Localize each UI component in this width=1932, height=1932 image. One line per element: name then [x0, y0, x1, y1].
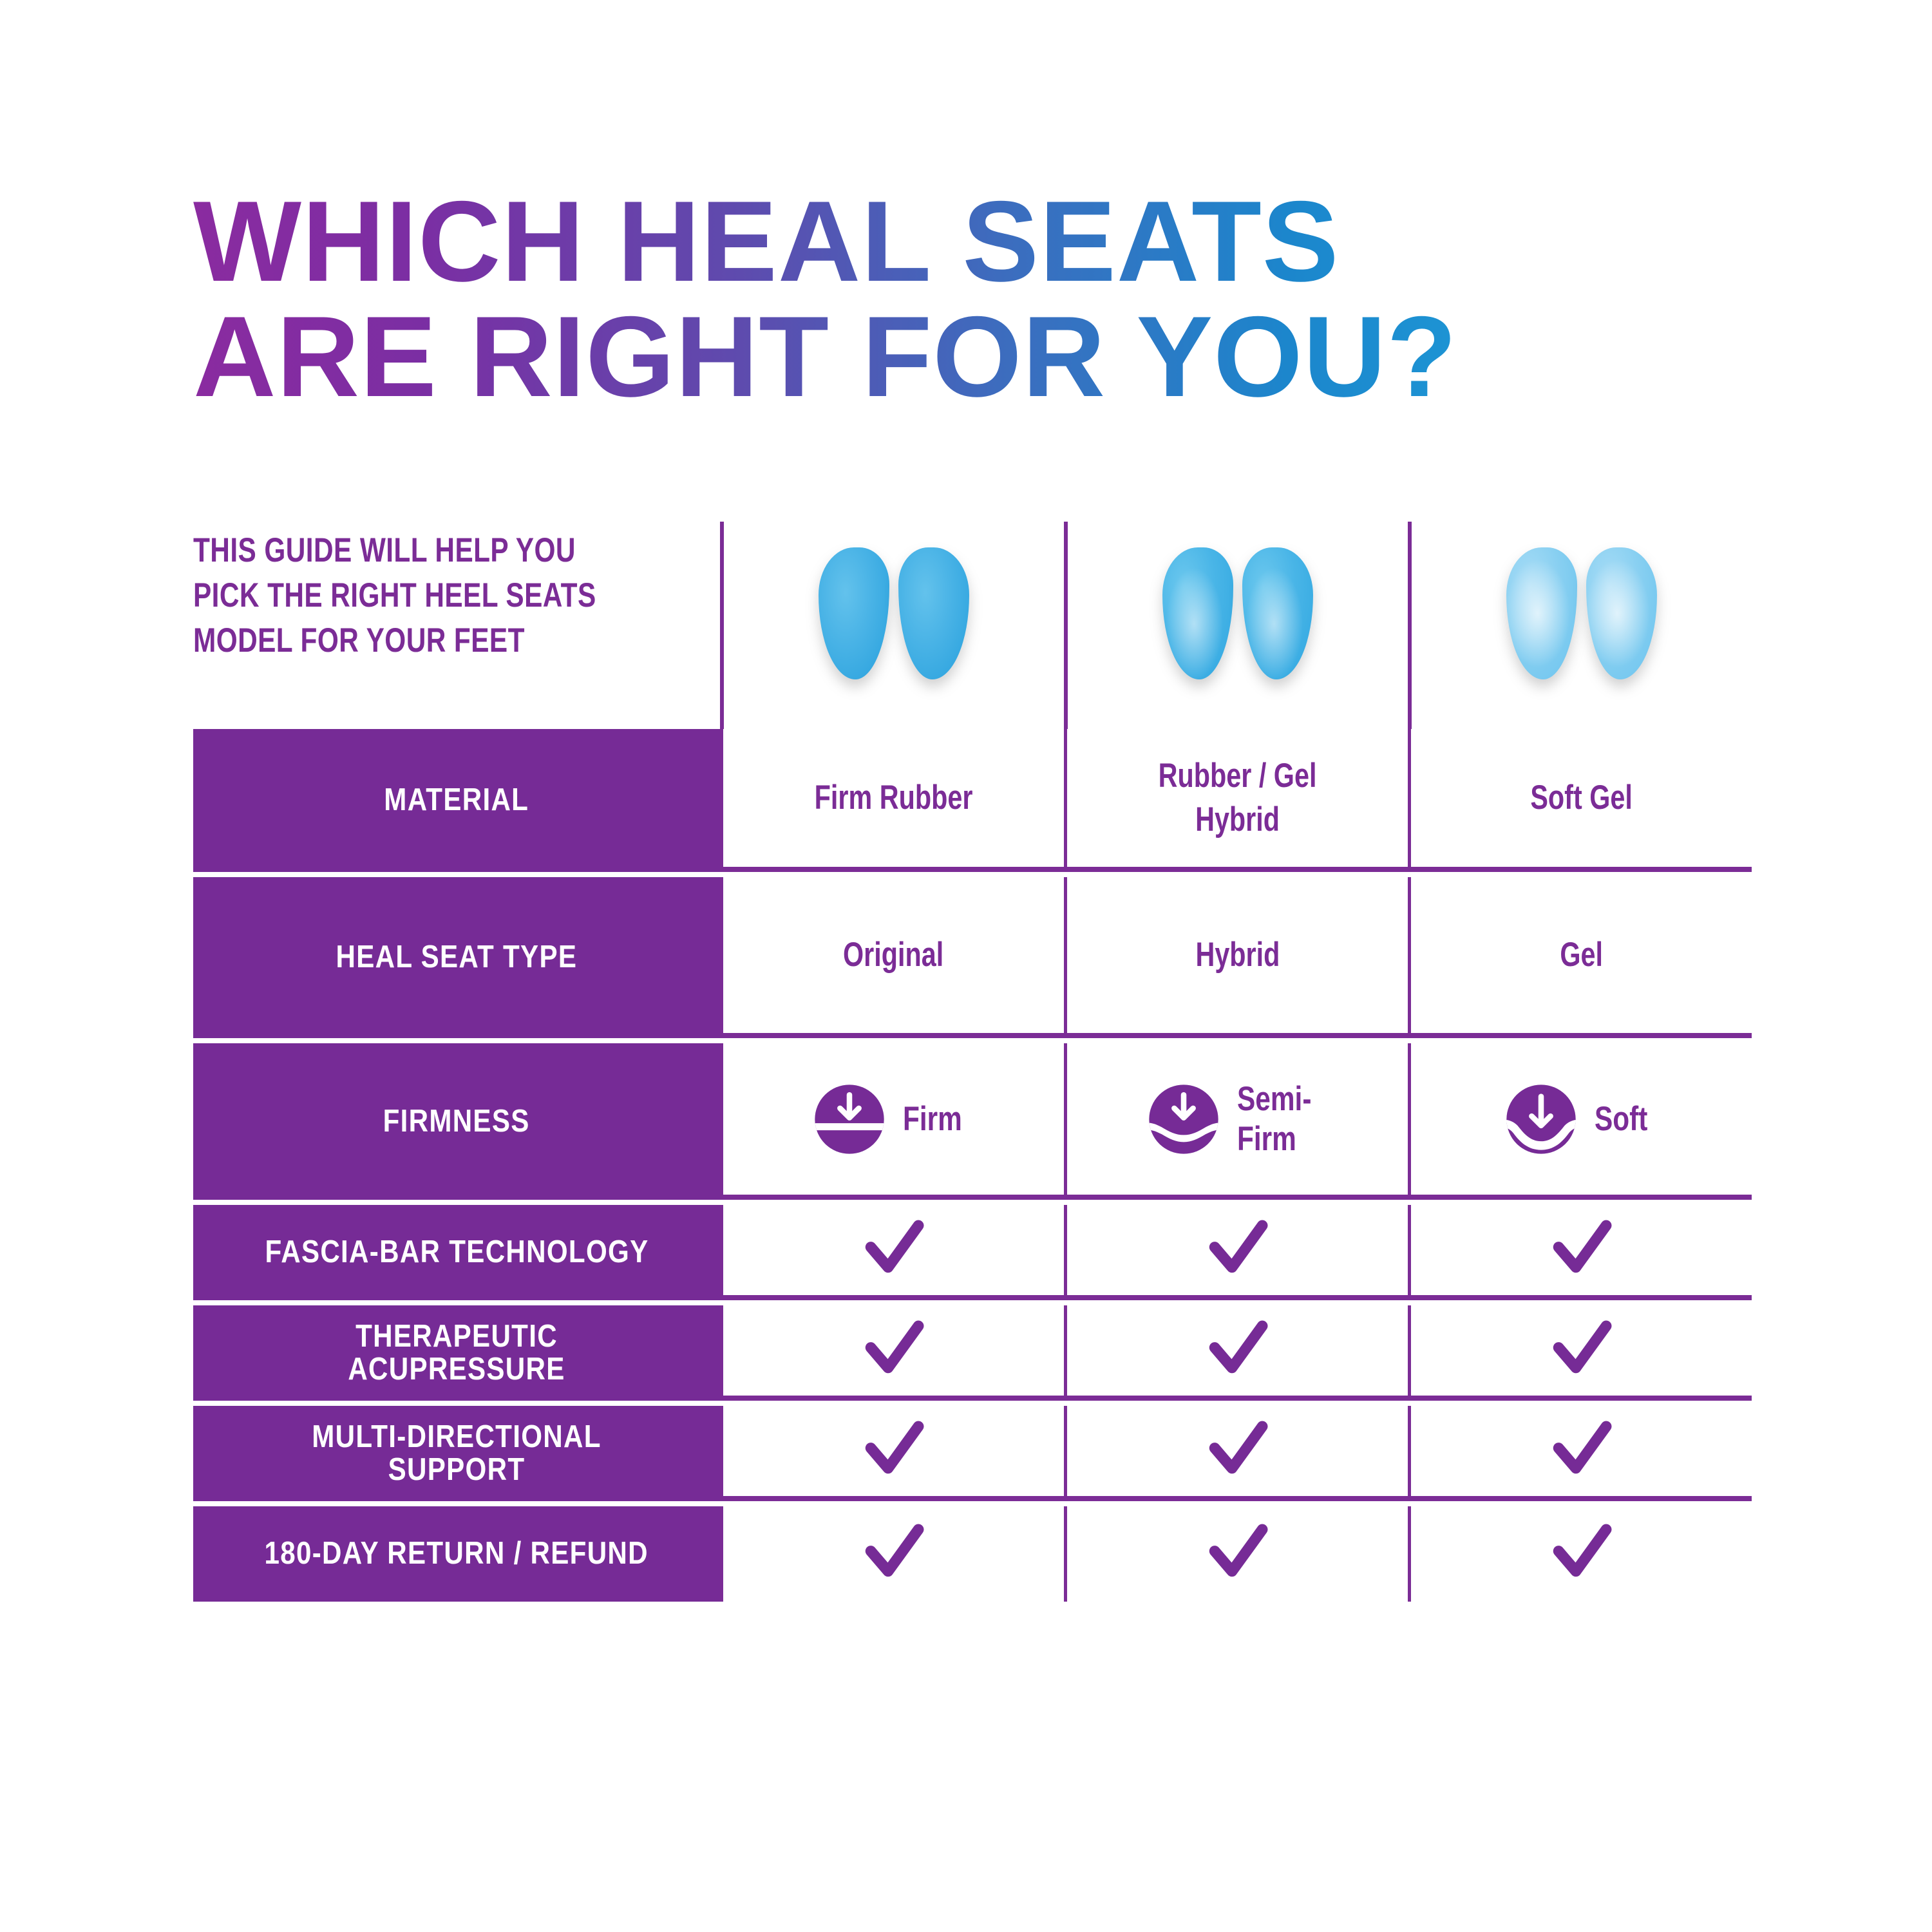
checkmark-icon [1202, 1518, 1274, 1590]
cell-acupressure-gel [1408, 1305, 1752, 1401]
checkmark-icon [1546, 1518, 1618, 1590]
firmness-deep-curve-icon [1502, 1080, 1580, 1159]
checkmark-icon [1202, 1415, 1274, 1487]
row-label-material: MATERIAL [193, 729, 720, 872]
table-row-material: MATERIAL Firm Rubber Rubber / Gel Hybrid… [193, 729, 1752, 872]
checkmark-icon [1202, 1314, 1274, 1387]
page-title-line-1: WHICH HEAL SEATS [193, 187, 1803, 296]
cell-firmness-gel: Soft [1408, 1043, 1752, 1200]
checkmark-icon [858, 1415, 930, 1487]
cell-acupressure-original [720, 1305, 1064, 1401]
product-cell-original [720, 522, 1064, 729]
table-row-heal-seat-type: HEAL SEAT TYPE Original Hybrid Gel [193, 877, 1752, 1038]
intro-line-3: MODEL FOR YOUR FEET [193, 618, 614, 663]
heel-cup-pair-hybrid-icon [1162, 547, 1313, 679]
table-row-return-refund: 180-DAY RETURN / REFUND [193, 1506, 1752, 1602]
checkmark-icon [1546, 1314, 1618, 1387]
intro-line-1: THIS GUIDE WILL HELP YOU [193, 528, 614, 573]
product-cell-gel [1408, 522, 1752, 729]
intro-text-cell: THIS GUIDE WILL HELP YOU PICK THE RIGHT … [193, 522, 720, 729]
cell-type-gel: Gel [1408, 877, 1752, 1038]
cell-material-original: Firm Rubber [720, 729, 1064, 872]
page-title-line-2: ARE RIGHT FOR YOU? [193, 302, 1803, 411]
cell-fascia-gel [1408, 1205, 1752, 1300]
row-label-return-refund: 180-DAY RETURN / REFUND [193, 1506, 720, 1602]
cell-type-hybrid: Hybrid [1064, 877, 1408, 1038]
cell-support-gel [1408, 1406, 1752, 1501]
comparison-table: THIS GUIDE WILL HELP YOU PICK THE RIGHT … [193, 522, 1752, 1607]
checkmark-icon [1546, 1415, 1618, 1487]
checkmark-icon [858, 1518, 930, 1590]
checkmark-icon [858, 1314, 930, 1387]
cell-type-original: Original [720, 877, 1064, 1038]
cell-refund-gel [1408, 1506, 1752, 1602]
cell-support-hybrid [1064, 1406, 1408, 1501]
cell-fascia-hybrid [1064, 1205, 1408, 1300]
cell-support-original [720, 1406, 1064, 1501]
intro-line-2: PICK THE RIGHT HEEL SEATS [193, 573, 614, 618]
checkmark-icon [1546, 1214, 1618, 1286]
firmness-wave-icon [1144, 1080, 1223, 1159]
row-label-therapeutic-acupressure: THERAPEUTIC ACUPRESSURE [193, 1305, 720, 1401]
row-label-firmness: FIRMNESS [193, 1043, 720, 1200]
heel-cup-pair-gel-icon [1506, 547, 1657, 679]
cell-firmness-original: Firm [720, 1043, 1064, 1200]
cell-refund-hybrid [1064, 1506, 1408, 1602]
cell-refund-original [720, 1506, 1064, 1602]
checkmark-icon [1202, 1214, 1274, 1286]
cell-fascia-original [720, 1205, 1064, 1300]
cell-acupressure-hybrid [1064, 1305, 1408, 1401]
table-header-row: THIS GUIDE WILL HELP YOU PICK THE RIGHT … [193, 522, 1752, 729]
product-cell-hybrid [1064, 522, 1408, 729]
cell-material-gel: Soft Gel [1408, 729, 1752, 872]
page-title: WHICH HEAL SEATS ARE RIGHT FOR YOU? [193, 187, 1803, 411]
row-label-multi-directional-support: MULTI-DIRECTIONAL SUPPORT [193, 1406, 720, 1501]
table-row-firmness: FIRMNESS Firm [193, 1043, 1752, 1200]
table-row-therapeutic-acupressure: THERAPEUTIC ACUPRESSURE [193, 1305, 1752, 1401]
table-row-fascia-bar-technology: FASCIA-BAR TECHNOLOGY [193, 1205, 1752, 1300]
checkmark-icon [858, 1214, 930, 1286]
infographic-page: WHICH HEAL SEATS ARE RIGHT FOR YOU? THIS… [0, 0, 1932, 1932]
heel-cup-pair-original-icon [819, 547, 969, 679]
firmness-flat-icon [810, 1080, 889, 1159]
row-label-fascia-bar-technology: FASCIA-BAR TECHNOLOGY [193, 1205, 720, 1300]
cell-firmness-hybrid: Semi- Firm [1064, 1043, 1408, 1200]
table-row-multi-directional-support: MULTI-DIRECTIONAL SUPPORT [193, 1406, 1752, 1501]
row-label-heal-seat-type: HEAL SEAT TYPE [193, 877, 720, 1038]
cell-material-hybrid: Rubber / Gel Hybrid [1064, 729, 1408, 872]
